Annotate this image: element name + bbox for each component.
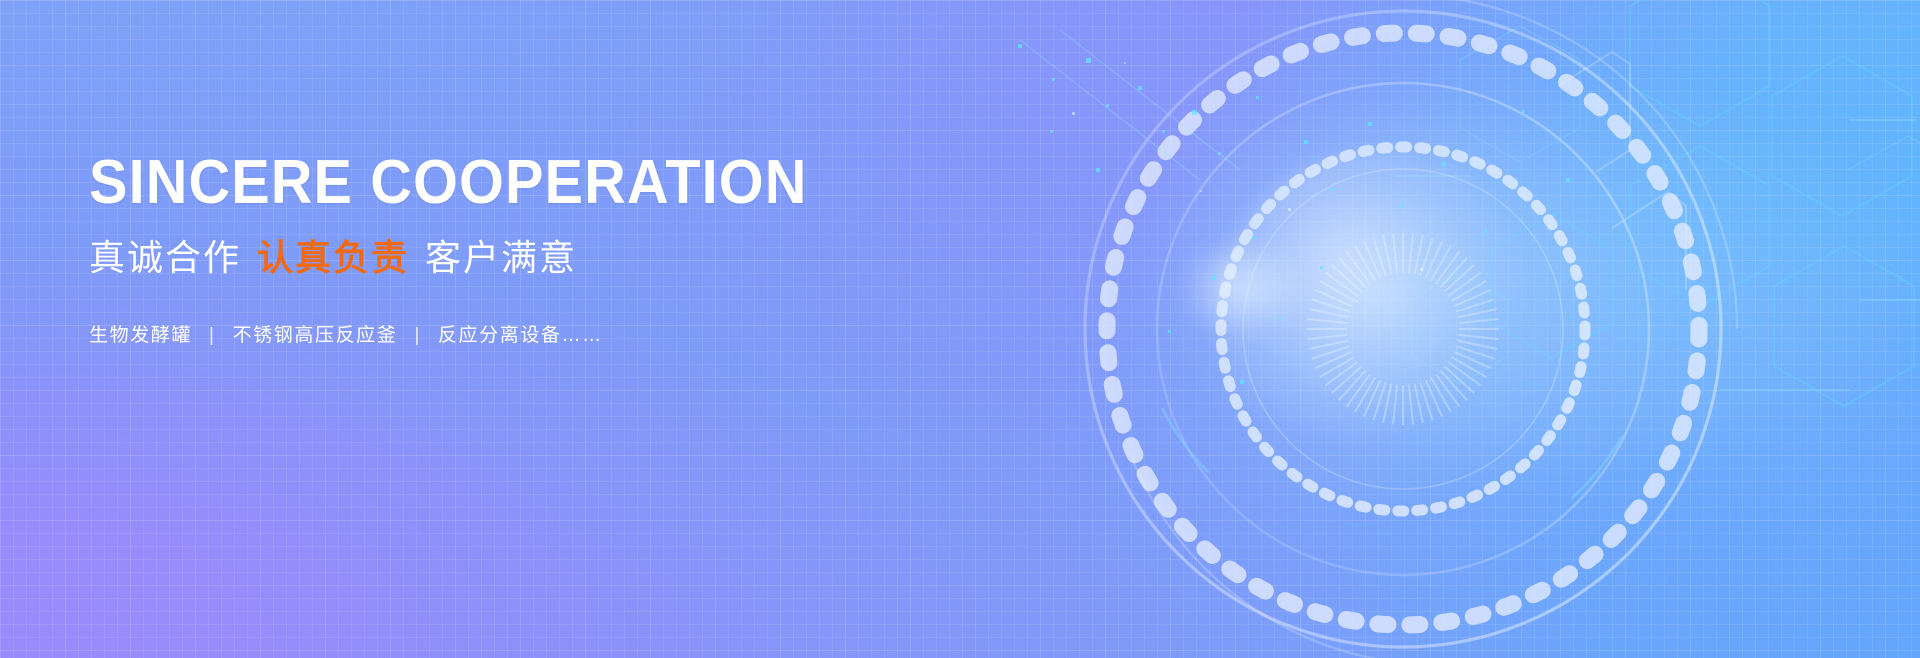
subtitle-part-3: 客户满意	[425, 237, 577, 278]
particle-sparkles-icon	[900, 0, 1920, 500]
subtitle-accent: 认真负责	[257, 237, 409, 278]
page-title: SINCERE COOPERATION	[89, 152, 926, 214]
product-list: 生物发酵罐|不锈钢高压反应釜|反应分离设备……	[89, 323, 989, 350]
hero-banner: SINCERE COOPERATION 真诚合作认真负责客户满意 生物发酵罐|不…	[0, 0, 1920, 658]
product-divider: |	[397, 323, 438, 350]
subtitle-part-1: 真诚合作	[89, 237, 241, 278]
product-divider: |	[192, 323, 233, 350]
product-item-1: 不锈钢高压反应釜	[233, 325, 398, 346]
banner-subtitle: 真诚合作认真负责客户满意	[89, 236, 989, 279]
product-item-2: 反应分离设备……	[438, 325, 603, 346]
banner-content: SINCERE COOPERATION 真诚合作认真负责客户满意 生物发酵罐|不…	[89, 0, 989, 658]
product-item-0: 生物发酵罐	[89, 325, 192, 346]
